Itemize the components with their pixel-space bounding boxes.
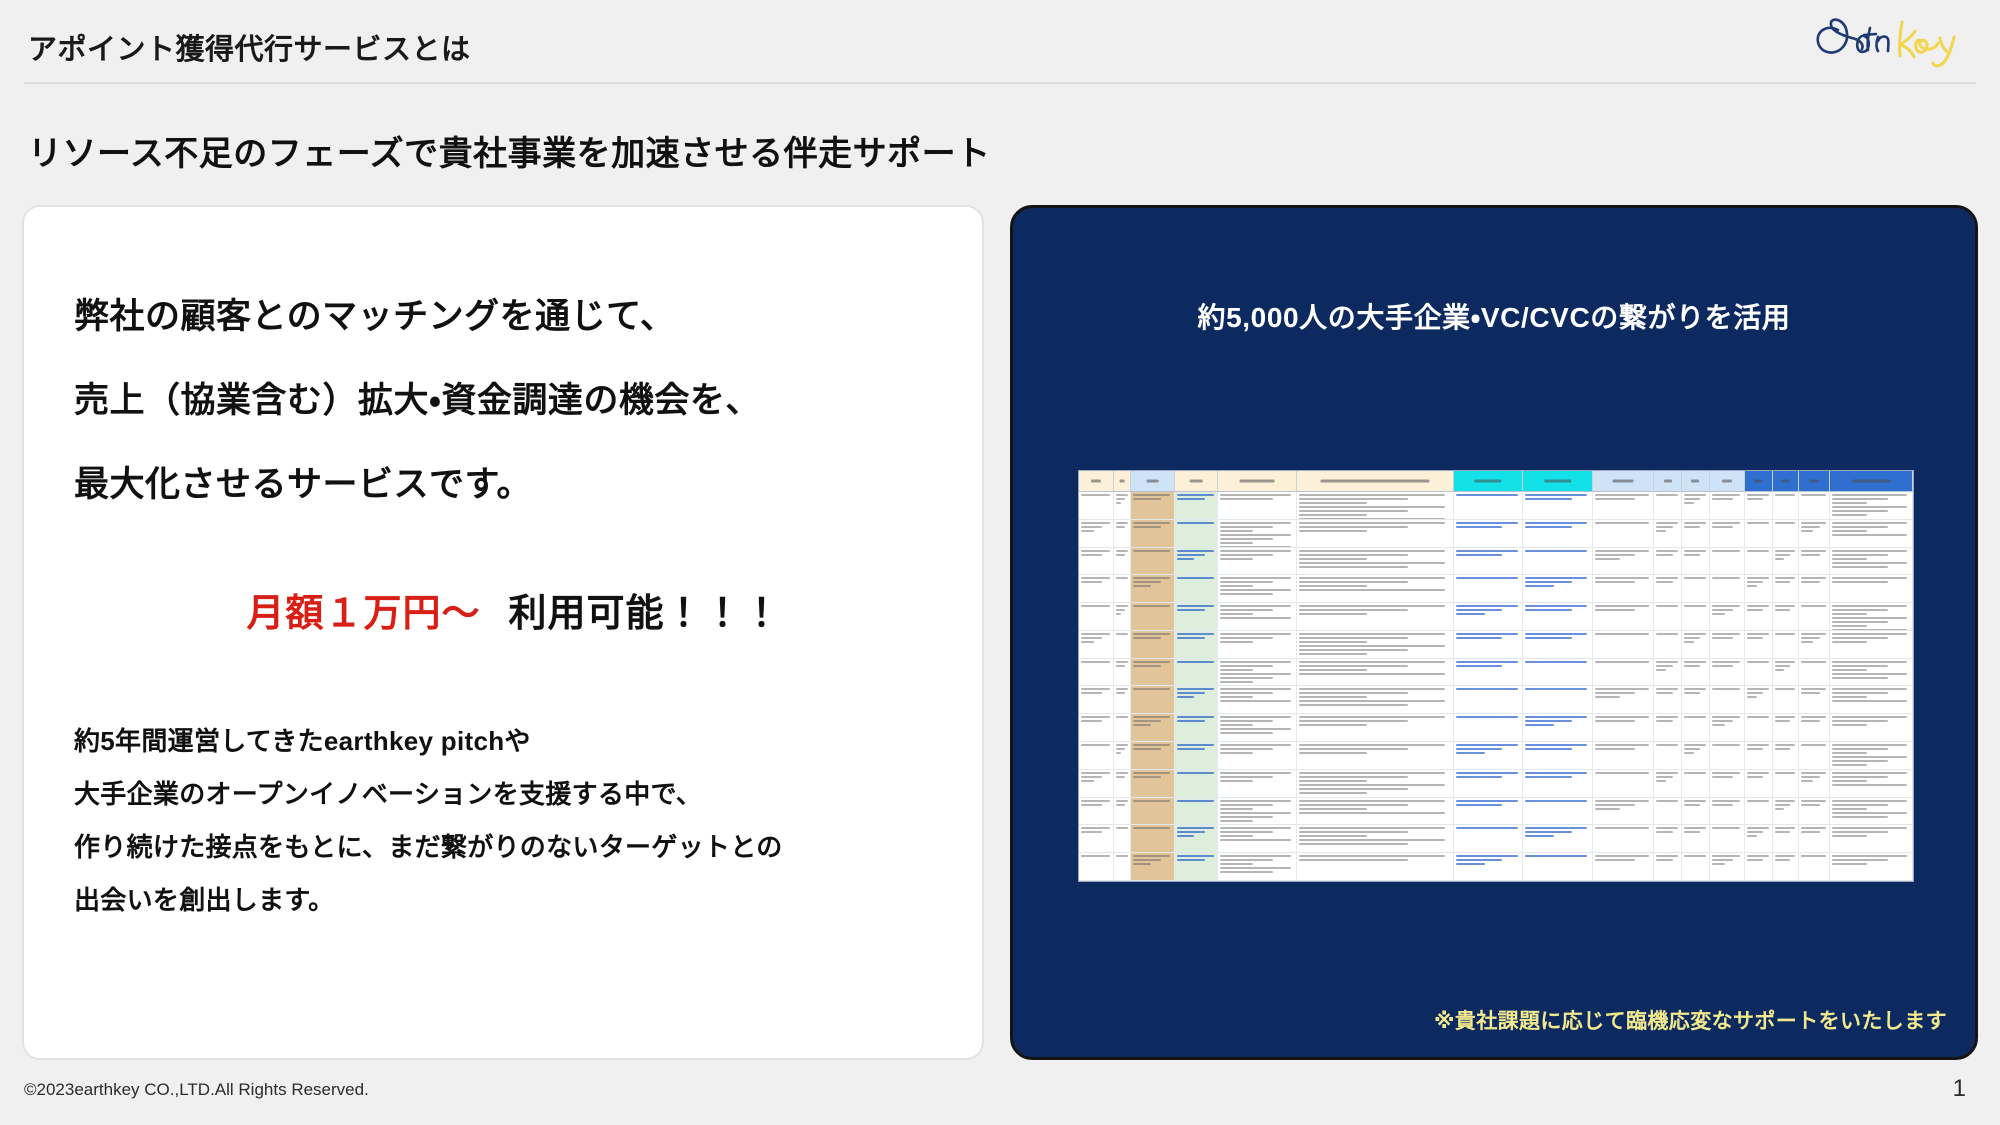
table-cell <box>1745 492 1773 519</box>
table-cell <box>1654 548 1682 575</box>
header-divider <box>24 82 1976 84</box>
table-cell <box>1593 825 1654 852</box>
table-cell <box>1131 798 1175 825</box>
spreadsheet-header-cell <box>1523 471 1593 491</box>
table-cell <box>1131 714 1175 741</box>
table-cell <box>1593 853 1654 880</box>
table-cell <box>1799 520 1830 547</box>
detail-line: 作り続けた接点をもとに、まだ繋がりのないターゲットとの <box>74 821 964 874</box>
table-cell <box>1079 853 1114 880</box>
table-cell <box>1131 825 1175 852</box>
table-cell <box>1830 714 1913 741</box>
table-cell <box>1773 798 1799 825</box>
detail-paragraph: 約5年間運営してきたearthkey pitchや 大手企業のオープンイノベーシ… <box>74 715 964 927</box>
table-cell <box>1114 686 1131 713</box>
table-cell <box>1079 659 1114 686</box>
table-cell <box>1654 659 1682 686</box>
table-cell <box>1682 714 1710 741</box>
table-cell <box>1830 520 1913 547</box>
table-cell <box>1799 742 1830 769</box>
table-cell <box>1830 686 1913 713</box>
table-cell <box>1454 631 1524 658</box>
panel-heading: 約5,000人の大手企業・VC/CVCの繋がりを活用 <box>1013 296 1975 336</box>
table-cell <box>1773 742 1799 769</box>
table-cell <box>1745 575 1773 602</box>
table-row <box>1079 853 1913 881</box>
page-title: アポイント獲得代行サービスとは <box>28 26 471 68</box>
table-cell <box>1830 798 1913 825</box>
table-cell <box>1682 742 1710 769</box>
detail-line: 約5年間運営してきたearthkey pitchや <box>74 715 964 768</box>
table-cell <box>1773 853 1799 880</box>
table-cell <box>1297 659 1454 686</box>
table-cell <box>1593 686 1654 713</box>
table-cell <box>1079 714 1114 741</box>
table-cell <box>1654 492 1682 519</box>
table-row <box>1079 520 1913 548</box>
table-cell <box>1523 714 1593 741</box>
table-cell <box>1131 603 1175 630</box>
table-cell <box>1175 798 1219 825</box>
table-cell <box>1773 714 1799 741</box>
table-cell <box>1682 770 1710 797</box>
table-cell <box>1593 603 1654 630</box>
table-cell <box>1799 575 1830 602</box>
spreadsheet-header-cell <box>1297 471 1454 491</box>
table-cell <box>1593 714 1654 741</box>
spreadsheet-header-cell <box>1114 471 1131 491</box>
table-row <box>1079 631 1913 659</box>
spreadsheet-body <box>1079 492 1913 881</box>
table-cell <box>1773 631 1799 658</box>
table-cell <box>1454 825 1524 852</box>
contact-list-spreadsheet <box>1078 470 1914 882</box>
table-cell <box>1218 548 1296 575</box>
table-cell <box>1297 825 1454 852</box>
table-cell <box>1523 548 1593 575</box>
table-cell <box>1523 631 1593 658</box>
table-cell <box>1454 575 1524 602</box>
table-cell <box>1773 575 1799 602</box>
spreadsheet-header-cell <box>1175 471 1219 491</box>
table-cell <box>1454 603 1524 630</box>
table-cell <box>1745 520 1773 547</box>
table-cell <box>1131 686 1175 713</box>
table-cell <box>1773 548 1799 575</box>
table-cell <box>1682 548 1710 575</box>
table-cell <box>1175 686 1219 713</box>
table-cell <box>1297 603 1454 630</box>
table-cell <box>1114 575 1131 602</box>
table-cell <box>1523 686 1593 713</box>
slide-subtitle: リソース不足のフェーズで貴社事業を加速させる伴走サポート <box>28 126 991 175</box>
table-cell <box>1079 575 1114 602</box>
table-cell <box>1654 798 1682 825</box>
table-cell <box>1175 548 1219 575</box>
spreadsheet-header-cell <box>1654 471 1682 491</box>
table-cell <box>1175 770 1219 797</box>
table-cell <box>1454 714 1524 741</box>
table-cell <box>1710 714 1745 741</box>
table-cell <box>1710 548 1745 575</box>
table-cell <box>1131 631 1175 658</box>
spreadsheet-header-cell <box>1218 471 1296 491</box>
table-cell <box>1131 742 1175 769</box>
table-cell <box>1799 548 1830 575</box>
table-cell <box>1593 492 1654 519</box>
table-cell <box>1218 520 1296 547</box>
table-cell <box>1593 631 1654 658</box>
table-row <box>1079 548 1913 576</box>
table-cell <box>1654 742 1682 769</box>
table-cell <box>1710 659 1745 686</box>
table-cell <box>1830 742 1913 769</box>
table-cell <box>1079 686 1114 713</box>
table-cell <box>1710 631 1745 658</box>
table-cell <box>1218 631 1296 658</box>
table-cell <box>1218 603 1296 630</box>
table-cell <box>1654 770 1682 797</box>
table-cell <box>1682 575 1710 602</box>
table-row <box>1079 659 1913 687</box>
table-cell <box>1175 631 1219 658</box>
table-cell <box>1079 798 1114 825</box>
table-cell <box>1523 798 1593 825</box>
spreadsheet-header-cell <box>1745 471 1773 491</box>
slide-header: アポイント獲得代行サービスとは <box>0 0 2000 88</box>
table-cell <box>1799 686 1830 713</box>
table-cell <box>1773 686 1799 713</box>
earthkey-logo <box>1808 8 1978 70</box>
lead-line: 最大化させるサービスです。 <box>74 443 954 527</box>
spreadsheet-header-row <box>1079 471 1913 492</box>
detail-line: 大手企業のオープンイノベーションを支援する中で、 <box>74 768 964 821</box>
price-availability-label: 利用可能！！！ <box>509 593 782 635</box>
table-cell <box>1710 603 1745 630</box>
table-cell <box>1079 603 1114 630</box>
table-cell <box>1297 714 1454 741</box>
table-cell <box>1175 742 1219 769</box>
table-cell <box>1218 825 1296 852</box>
table-cell <box>1830 575 1913 602</box>
table-cell <box>1297 575 1454 602</box>
table-cell <box>1454 548 1524 575</box>
table-cell <box>1454 742 1524 769</box>
table-cell <box>1523 520 1593 547</box>
table-cell <box>1131 520 1175 547</box>
table-cell <box>1745 742 1773 769</box>
table-cell <box>1745 631 1773 658</box>
table-row <box>1079 714 1913 742</box>
table-cell <box>1710 770 1745 797</box>
table-cell <box>1297 492 1454 519</box>
table-cell <box>1745 798 1773 825</box>
table-cell <box>1710 798 1745 825</box>
table-cell <box>1523 825 1593 852</box>
table-cell <box>1218 798 1296 825</box>
table-cell <box>1079 742 1114 769</box>
table-cell <box>1799 825 1830 852</box>
table-cell <box>1454 686 1524 713</box>
table-cell <box>1799 798 1830 825</box>
table-cell <box>1175 714 1219 741</box>
table-cell <box>1218 770 1296 797</box>
table-cell <box>1114 714 1131 741</box>
lead-paragraph: 弊社の顧客とのマッチングを通じて、 売上（協業含む）拡大・資金調達の機会を、 最… <box>74 275 954 527</box>
table-cell <box>1654 520 1682 547</box>
spreadsheet-header-cell <box>1799 471 1830 491</box>
table-cell <box>1114 659 1131 686</box>
table-cell <box>1114 798 1131 825</box>
table-cell <box>1523 853 1593 880</box>
table-cell <box>1131 575 1175 602</box>
spreadsheet-header-cell <box>1454 471 1524 491</box>
table-cell <box>1682 659 1710 686</box>
table-cell <box>1745 659 1773 686</box>
table-cell <box>1799 853 1830 880</box>
table-cell <box>1654 603 1682 630</box>
table-cell <box>1079 825 1114 852</box>
table-cell <box>1175 575 1219 602</box>
table-cell <box>1175 603 1219 630</box>
table-cell <box>1218 742 1296 769</box>
table-cell <box>1114 742 1131 769</box>
table-cell <box>1654 825 1682 852</box>
table-cell <box>1297 742 1454 769</box>
table-cell <box>1682 825 1710 852</box>
table-cell <box>1297 631 1454 658</box>
table-cell <box>1114 825 1131 852</box>
table-cell <box>1297 770 1454 797</box>
table-cell <box>1799 631 1830 658</box>
table-cell <box>1830 492 1913 519</box>
table-cell <box>1175 825 1219 852</box>
footer-copyright: ©2023earthkey CO.,LTD.All Rights Reserve… <box>24 1080 369 1100</box>
table-cell <box>1830 853 1913 880</box>
table-cell <box>1830 659 1913 686</box>
table-cell <box>1114 631 1131 658</box>
table-cell <box>1079 770 1114 797</box>
table-cell <box>1175 659 1219 686</box>
table-row <box>1079 603 1913 631</box>
table-cell <box>1297 548 1454 575</box>
table-cell <box>1218 686 1296 713</box>
table-cell <box>1593 548 1654 575</box>
table-cell <box>1079 492 1114 519</box>
panel-note: ※貴社課題に応じて臨機応変なサポートをいたします <box>1434 1005 1947 1035</box>
table-row <box>1079 798 1913 826</box>
table-cell <box>1830 770 1913 797</box>
spreadsheet-header-cell <box>1593 471 1654 491</box>
spreadsheet-header-cell <box>1830 471 1913 491</box>
table-cell <box>1682 686 1710 713</box>
table-cell <box>1710 492 1745 519</box>
table-cell <box>1079 631 1114 658</box>
table-cell <box>1773 492 1799 519</box>
lead-line: 弊社の顧客とのマッチングを通じて、 <box>74 275 954 359</box>
table-cell <box>1114 492 1131 519</box>
table-cell <box>1710 520 1745 547</box>
table-cell <box>1682 798 1710 825</box>
table-cell <box>1710 575 1745 602</box>
table-cell <box>1773 825 1799 852</box>
description-card: 弊社の顧客とのマッチングを通じて、 売上（協業含む）拡大・資金調達の機会を、 最… <box>22 205 984 1060</box>
table-cell <box>1799 714 1830 741</box>
table-cell <box>1523 742 1593 769</box>
table-cell <box>1523 659 1593 686</box>
table-cell <box>1593 798 1654 825</box>
table-cell <box>1710 853 1745 880</box>
table-cell <box>1454 853 1524 880</box>
table-cell <box>1454 770 1524 797</box>
detail-line: 出会いを創出します。 <box>74 874 964 927</box>
table-row <box>1079 686 1913 714</box>
table-cell <box>1682 853 1710 880</box>
price-amount: 月額１万円〜 <box>246 593 480 635</box>
table-cell <box>1830 603 1913 630</box>
spreadsheet-header-cell <box>1682 471 1710 491</box>
table-cell <box>1799 659 1830 686</box>
table-cell <box>1175 853 1219 880</box>
table-cell <box>1745 853 1773 880</box>
table-cell <box>1654 853 1682 880</box>
table-cell <box>1114 853 1131 880</box>
table-cell <box>1654 686 1682 713</box>
page-number: 1 <box>1953 1075 1966 1103</box>
table-cell <box>1297 798 1454 825</box>
table-cell <box>1297 520 1454 547</box>
table-cell <box>1114 548 1131 575</box>
table-row <box>1079 742 1913 770</box>
table-cell <box>1773 520 1799 547</box>
table-cell <box>1593 659 1654 686</box>
table-cell <box>1710 825 1745 852</box>
table-cell <box>1218 575 1296 602</box>
table-cell <box>1523 575 1593 602</box>
table-cell <box>1654 575 1682 602</box>
table-cell <box>1297 686 1454 713</box>
table-row <box>1079 825 1913 853</box>
table-cell <box>1218 492 1296 519</box>
table-cell <box>1654 714 1682 741</box>
table-cell <box>1830 631 1913 658</box>
table-cell <box>1682 520 1710 547</box>
table-cell <box>1593 575 1654 602</box>
spreadsheet-header-cell <box>1131 471 1175 491</box>
table-cell <box>1830 548 1913 575</box>
lead-line: 売上（協業含む）拡大・資金調達の機会を、 <box>74 359 954 443</box>
table-cell <box>1745 686 1773 713</box>
table-cell <box>1114 603 1131 630</box>
table-row <box>1079 492 1913 520</box>
table-cell <box>1593 770 1654 797</box>
table-cell <box>1175 520 1219 547</box>
table-row <box>1079 575 1913 603</box>
table-cell <box>1175 492 1219 519</box>
table-cell <box>1593 742 1654 769</box>
table-cell <box>1079 520 1114 547</box>
table-cell <box>1682 603 1710 630</box>
table-cell <box>1218 853 1296 880</box>
spreadsheet-header-cell <box>1710 471 1745 491</box>
table-cell <box>1131 770 1175 797</box>
price-callout: 月額１万円〜利用可能！！！ <box>74 582 954 637</box>
table-cell <box>1523 770 1593 797</box>
table-cell <box>1079 548 1114 575</box>
table-cell <box>1745 714 1773 741</box>
table-cell <box>1830 825 1913 852</box>
table-cell <box>1131 548 1175 575</box>
table-cell <box>1710 742 1745 769</box>
table-cell <box>1799 492 1830 519</box>
spreadsheet-header-cell <box>1773 471 1799 491</box>
table-cell <box>1799 603 1830 630</box>
network-panel: 約5,000人の大手企業・VC/CVCの繋がりを活用 ※貴社課題に応じて臨機応変… <box>1010 205 1978 1060</box>
table-cell <box>1131 659 1175 686</box>
table-cell <box>1773 770 1799 797</box>
table-cell <box>1454 492 1524 519</box>
spreadsheet-header-cell <box>1079 471 1114 491</box>
table-cell <box>1114 520 1131 547</box>
table-cell <box>1297 853 1454 880</box>
table-cell <box>1745 770 1773 797</box>
table-cell <box>1799 770 1830 797</box>
table-cell <box>1682 492 1710 519</box>
table-cell <box>1454 798 1524 825</box>
table-cell <box>1131 853 1175 880</box>
table-cell <box>1523 492 1593 519</box>
table-cell <box>1773 659 1799 686</box>
table-cell <box>1654 631 1682 658</box>
table-row <box>1079 770 1913 798</box>
table-cell <box>1682 631 1710 658</box>
table-cell <box>1454 520 1524 547</box>
table-cell <box>1218 659 1296 686</box>
table-cell <box>1523 603 1593 630</box>
table-cell <box>1745 548 1773 575</box>
table-cell <box>1114 770 1131 797</box>
table-cell <box>1131 492 1175 519</box>
table-cell <box>1454 659 1524 686</box>
table-cell <box>1745 603 1773 630</box>
table-cell <box>1710 686 1745 713</box>
table-cell <box>1773 603 1799 630</box>
table-cell <box>1593 520 1654 547</box>
table-cell <box>1745 825 1773 852</box>
table-cell <box>1218 714 1296 741</box>
